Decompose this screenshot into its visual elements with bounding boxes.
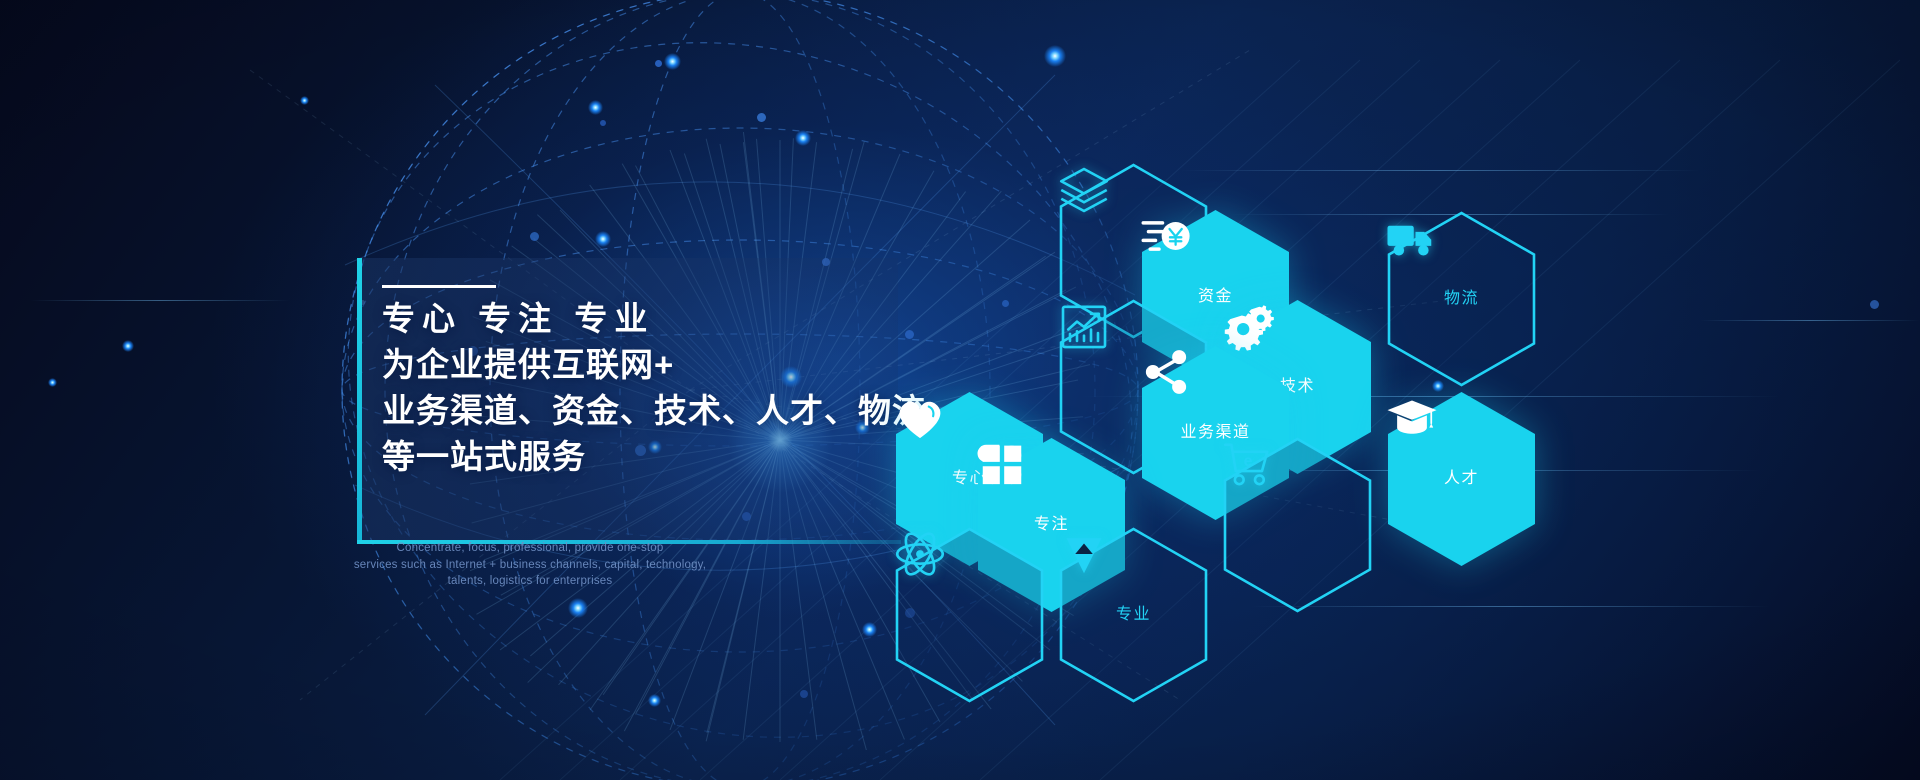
headline-line-1: 专心 专注 专业 xyxy=(382,296,902,342)
headline-line-3: 业务渠道、资金、技术、人才、物流 xyxy=(382,388,902,434)
headline-line-2: 为企业提供互联网+ xyxy=(382,342,902,388)
clover-icon xyxy=(974,436,1030,492)
growth-chart-icon xyxy=(1056,298,1112,354)
truck-icon xyxy=(1384,210,1440,266)
atom-icon xyxy=(892,526,948,582)
title-rule xyxy=(382,285,496,288)
panel-accent-bar-left xyxy=(357,258,362,543)
hex-atom[interactable] xyxy=(892,526,1047,704)
subtitle-line-2: services such as Internet + business cha… xyxy=(330,557,730,574)
diamond-icon xyxy=(1056,526,1112,582)
subtitle-line-3: talents, logistics for enterprises xyxy=(330,573,730,590)
subtitle-block: Concentrate, focus, professional, provid… xyxy=(330,540,730,590)
hero-banner: 专心 专注 专业 为企业提供互联网+ 业务渠道、资金、技术、人才、物流 等一站式… xyxy=(0,0,1920,780)
layers-icon xyxy=(1056,162,1112,218)
hex-label: 人才 xyxy=(1444,471,1479,487)
hexagon-grid: 资金 物流 xyxy=(890,110,1900,670)
share-nodes-icon xyxy=(1138,344,1194,400)
subtitle-line-1: Concentrate, focus, professional, provid… xyxy=(330,540,730,557)
ecommerce-cart-icon: e xyxy=(1220,436,1276,492)
hex-label: 专业 xyxy=(1116,607,1151,623)
graduation-cap-icon xyxy=(1384,390,1440,446)
headline-line-4: 等一站式服务 xyxy=(382,434,902,480)
svg-text:e: e xyxy=(1244,453,1253,470)
hex-logistics[interactable]: 物流 xyxy=(1384,210,1539,388)
hex-professional[interactable]: 专业 xyxy=(1056,526,1211,704)
hex-talent[interactable]: 人才 xyxy=(1384,390,1539,568)
hex-ecommerce[interactable]: e xyxy=(1220,436,1375,614)
headline-block: 专心 专注 专业 为企业提供互联网+ 业务渠道、资金、技术、人才、物流 等一站式… xyxy=(382,296,902,480)
heart-icon xyxy=(892,390,948,446)
money-yen-icon xyxy=(1138,208,1194,264)
hex-label: 物流 xyxy=(1444,291,1479,307)
